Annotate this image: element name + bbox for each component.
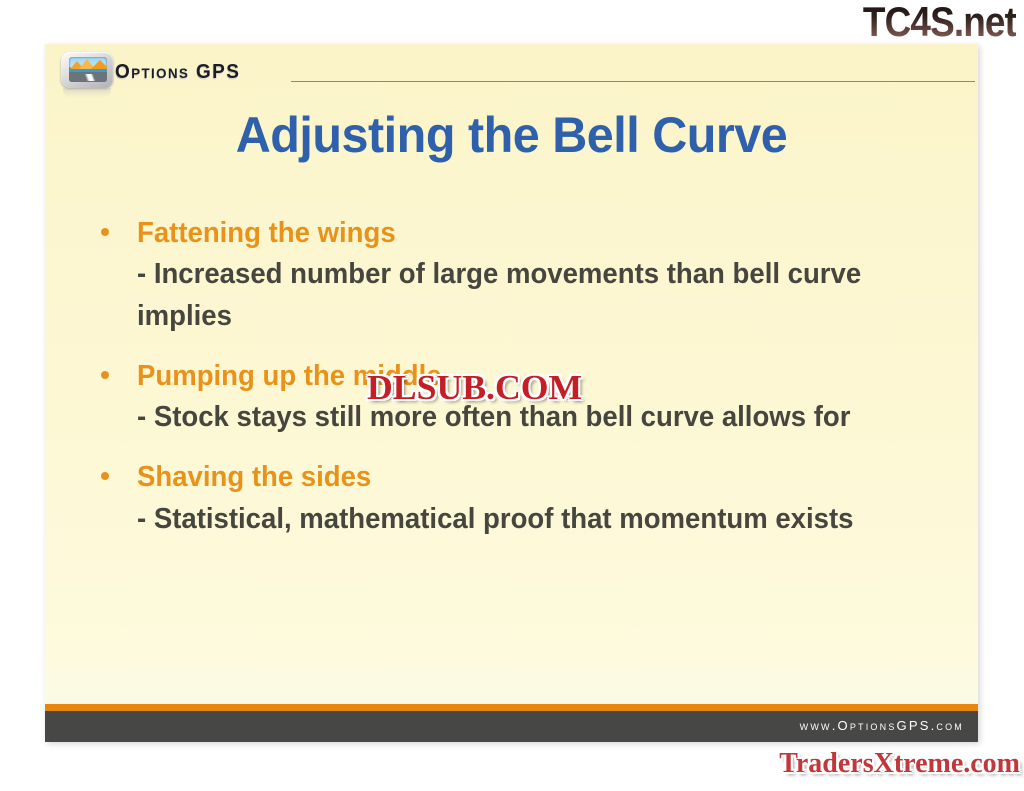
dlsub-watermark: DLSUB.COM	[367, 368, 582, 408]
tc4s-watermark: TC4S.net	[863, 0, 1016, 46]
logo-reflection	[63, 88, 111, 98]
bullet-detail: - Statistical, mathematical proof that m…	[137, 498, 907, 540]
bullet-detail: - Increased number of large movements th…	[137, 253, 907, 337]
brand-wordmark: Options GPS	[115, 61, 240, 84]
presentation-slide: Options GPS Adjusting the Bell Curve Fat…	[45, 44, 978, 742]
gps-device-body	[61, 52, 113, 88]
mountain-shape	[91, 60, 107, 69]
gps-device-icon	[59, 52, 115, 92]
road-band	[69, 72, 107, 82]
slide-header: Options GPS	[45, 44, 978, 92]
header-divider	[291, 81, 975, 82]
bullet-heading: Fattening the wings	[137, 214, 917, 253]
slide-title: Adjusting the Bell Curve	[59, 106, 964, 164]
bullet-dot-icon	[101, 228, 109, 236]
bullet-item: Fattening the wings - Increased number o…	[97, 214, 958, 337]
bullet-heading: Shaving the sides	[137, 458, 917, 497]
tradersxtreme-watermark: TradersXtreme.com	[779, 748, 1020, 780]
bullet-dot-icon	[101, 371, 109, 379]
footer-accent-strip	[45, 704, 978, 711]
slide-footer-bar: www.OptionsGPS.com	[45, 711, 978, 742]
gps-device-screen	[69, 57, 107, 82]
bullet-item: Shaving the sides - Statistical, mathema…	[97, 458, 958, 539]
bullet-dot-icon	[101, 472, 109, 480]
footer-website-url: www.OptionsGPS.com	[800, 718, 964, 733]
